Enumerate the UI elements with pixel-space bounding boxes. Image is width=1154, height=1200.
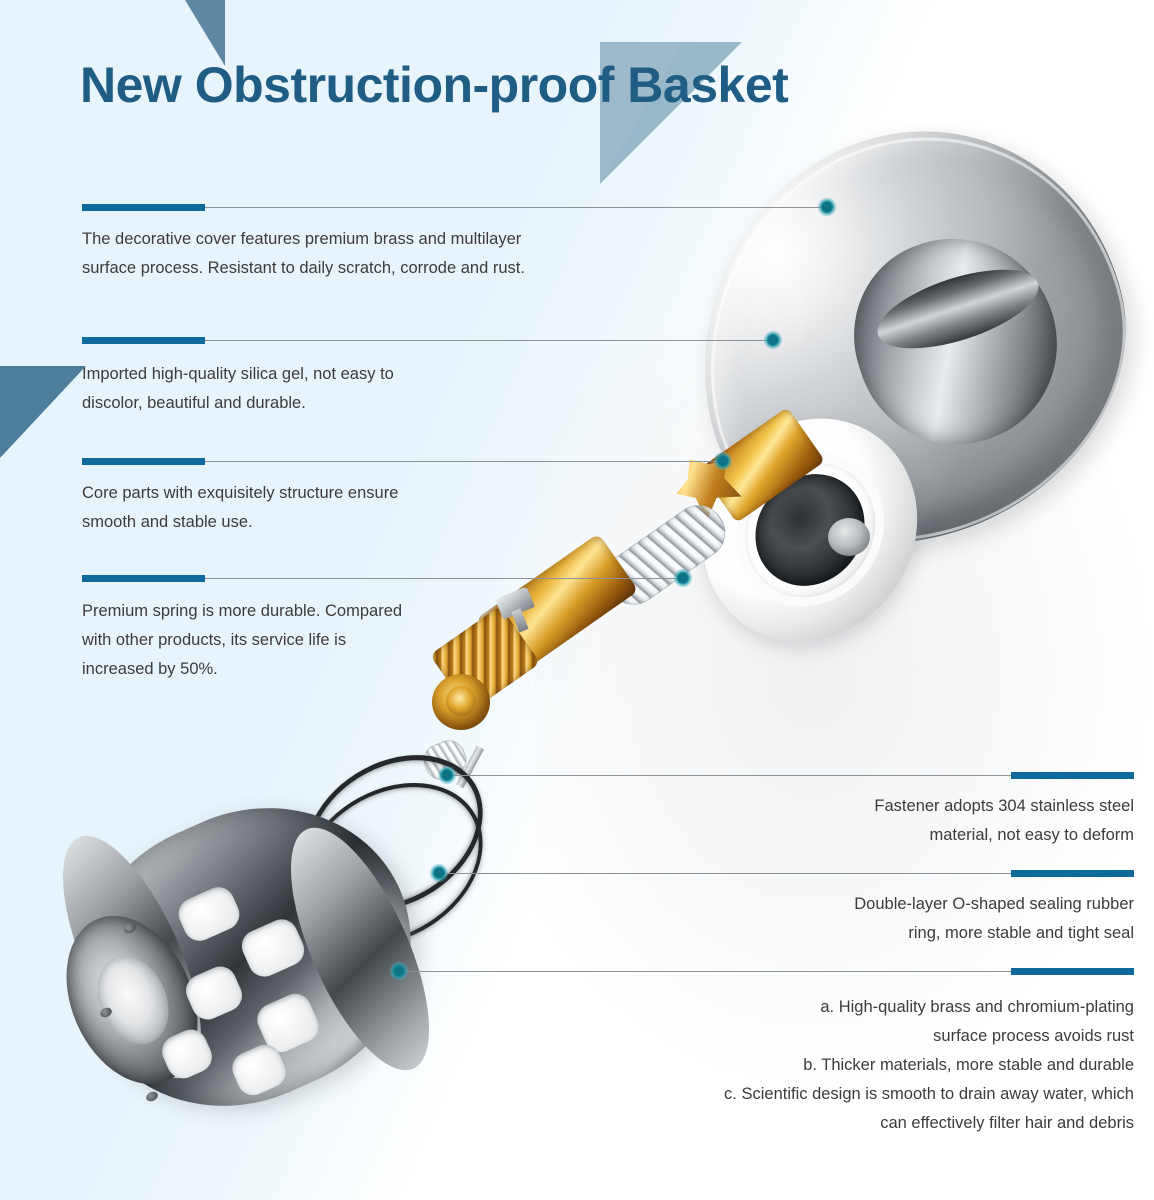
callout-text: Imported high-quality silica gel, not ea… xyxy=(82,360,622,418)
page-title: New Obstruction-proof Basket xyxy=(80,56,788,114)
callout-text: Double-layer O-shaped sealing rubber rin… xyxy=(600,890,1134,948)
callout-text: The decorative cover features premium br… xyxy=(82,225,682,283)
callout-accent-bar xyxy=(82,458,205,465)
callout-marker-dot xyxy=(438,766,456,784)
callout-text: a. High-quality brass and chromium-plati… xyxy=(520,993,1134,1138)
callout-accent-bar xyxy=(82,204,205,211)
callout-accent-bar xyxy=(82,575,205,582)
callout-marker-dot xyxy=(430,864,448,882)
callout-text: Premium spring is more durable. Compared… xyxy=(82,597,622,684)
callout-text: Core parts with exquisitely structure en… xyxy=(82,479,622,537)
callout-marker-dot xyxy=(764,331,782,349)
callout-marker-dot xyxy=(714,452,732,470)
callout-text: Fastener adopts 304 stainless steel mate… xyxy=(600,792,1134,850)
callout-marker-dot xyxy=(390,962,408,980)
basket-pin-hole xyxy=(145,1090,160,1103)
callout-accent-bar xyxy=(1011,870,1134,877)
callout-accent-bar xyxy=(1011,772,1134,779)
callout-accent-bar xyxy=(82,337,205,344)
callout-marker-dot xyxy=(818,198,836,216)
infographic-canvas: New Obstruction-proof Basket xyxy=(0,0,1154,1200)
callout-accent-bar xyxy=(1011,968,1134,975)
decor-triangle-left xyxy=(0,366,86,458)
callout-marker-dot xyxy=(674,569,692,587)
